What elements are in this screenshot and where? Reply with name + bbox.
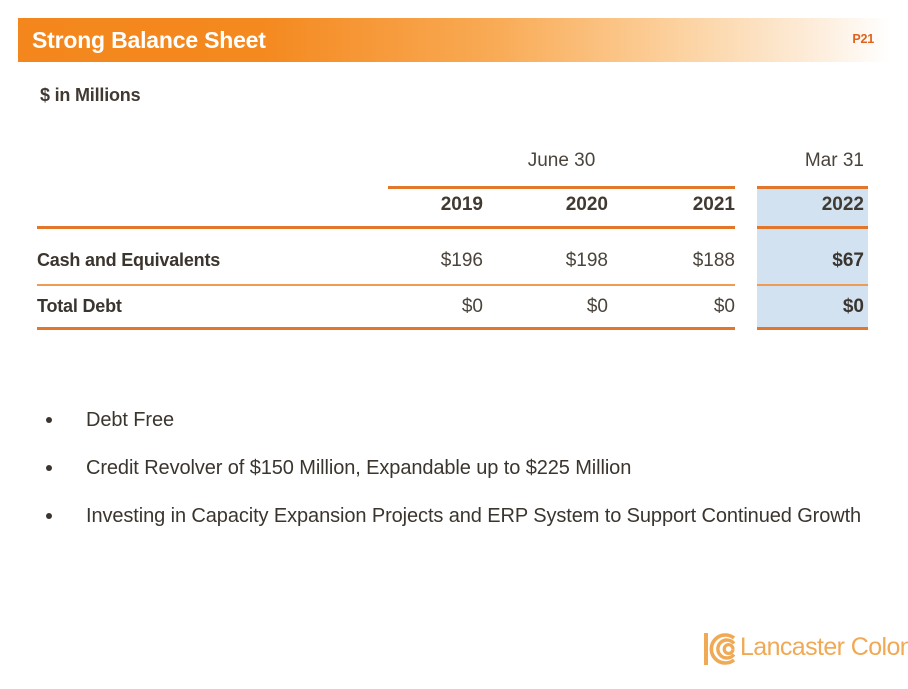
- list-item: Debt Free: [38, 396, 868, 444]
- list-item: Investing in Capacity Expansion Projects…: [38, 492, 868, 540]
- units-subtitle: $ in Millions: [40, 85, 140, 106]
- rule-table-bottom-2022: [757, 327, 868, 330]
- column-header-2019: 2019: [388, 194, 483, 216]
- cell-debt-2019: $0: [388, 296, 483, 318]
- cell-debt-2020: $0: [513, 296, 608, 318]
- cell-cash-2022: $67: [757, 250, 864, 272]
- row-label-total-debt: Total Debt: [37, 296, 122, 317]
- rule-under-mar-31: [757, 186, 868, 189]
- rule-between-rows: [37, 284, 735, 286]
- list-item-text: Investing in Capacity Expansion Projects…: [86, 505, 861, 527]
- cell-cash-2021: $188: [638, 250, 735, 272]
- group-header-mar-31: Mar 31: [757, 150, 868, 172]
- cell-debt-2021: $0: [638, 296, 735, 318]
- balance-sheet-table: June 30 Mar 31 2019 2020 2021 2022 Cash …: [0, 150, 908, 186]
- brand-logo-text: Lancaster Colony: [740, 633, 908, 662]
- rule-table-bottom: [37, 327, 735, 330]
- table-row: Cash and Equivalents $196 $198 $188 $67: [0, 244, 908, 288]
- list-item-text: Debt Free: [86, 409, 174, 431]
- column-header-2022: 2022: [757, 194, 864, 216]
- rule-under-column-headers: [37, 226, 735, 229]
- highlights-list: Debt Free Credit Revolver of $150 Millio…: [38, 396, 868, 540]
- rule-under-column-header-2022: [757, 226, 868, 229]
- row-label-cash-and-equivalents: Cash and Equivalents: [37, 250, 220, 271]
- page-number-label: P21: [852, 32, 874, 46]
- cell-debt-2022: $0: [757, 296, 864, 318]
- lancaster-colony-monogram-icon: [700, 629, 740, 669]
- list-item: Credit Revolver of $150 Million, Expanda…: [38, 444, 868, 492]
- group-header-june-30: June 30: [388, 150, 735, 172]
- brand-logo: Lancaster Colony: [700, 627, 900, 673]
- cell-cash-2019: $196: [388, 250, 483, 272]
- column-header-2020: 2020: [513, 194, 608, 216]
- cell-cash-2020: $198: [513, 250, 608, 272]
- column-header-row: 2019 2020 2021 2022: [0, 194, 908, 226]
- bullet-dot-icon: [46, 417, 52, 423]
- rule-under-june-30: [388, 186, 735, 189]
- bullet-dot-icon: [46, 465, 52, 471]
- rule-between-rows-2022: [757, 284, 868, 286]
- page-title: Strong Balance Sheet: [32, 27, 266, 54]
- group-header-row: June 30 Mar 31: [0, 150, 908, 186]
- column-header-2021: 2021: [638, 194, 735, 216]
- bullet-dot-icon: [46, 513, 52, 519]
- list-item-text: Credit Revolver of $150 Million, Expanda…: [86, 457, 631, 479]
